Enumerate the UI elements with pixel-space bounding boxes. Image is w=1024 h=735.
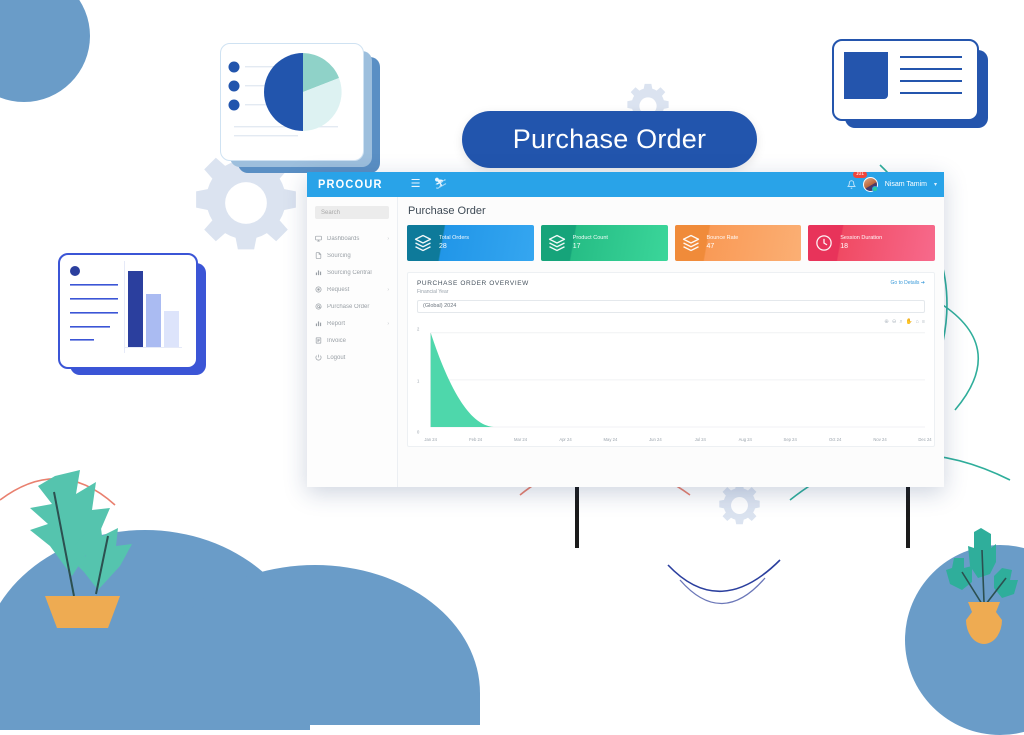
sidebar-item-label: Dashboards [327, 236, 382, 242]
chart-x-tick: Sep 24 [784, 437, 797, 442]
id-card-graphic [832, 39, 975, 117]
stat-card-label: Bounce Rate [707, 236, 739, 242]
go-to-details-link[interactable]: Go to Details ➔ [891, 280, 925, 286]
gear-bottom-center [716, 482, 763, 529]
sidebar-item-sourcing[interactable]: Sourcing [307, 247, 397, 264]
sidebar-item-label: Request [327, 287, 382, 293]
stat-card-label: Session Duration [840, 236, 882, 242]
zoom-out-icon[interactable]: ⊖ [892, 320, 897, 326]
chart-toolbar: ⊕ ⊖ ⌕ ✋ ⌂ ≡ [884, 320, 925, 326]
target-icon [315, 286, 322, 293]
stat-card-value: 18 [840, 243, 882, 250]
user-name[interactable]: Nisam Tamim [885, 181, 927, 188]
potted-plant-right [944, 520, 1024, 646]
reset-home-icon[interactable]: ⌂ [915, 320, 918, 326]
sidebar-item-label: Sourcing Central [327, 270, 384, 276]
chart-y-tick: 2 [417, 327, 419, 332]
stat-card-label: Total Orders [439, 236, 469, 242]
pie-chart-card [220, 43, 380, 173]
panel-subtitle: Financial Year [417, 289, 529, 295]
chart-bar-icon [315, 269, 322, 276]
sidebar-item-label: Report [327, 321, 382, 327]
page-root: Purchase Order PROCOUR ☰ ⛷ 101 Nisam Tam… [0, 0, 1024, 646]
document-icon [315, 252, 322, 259]
layers-icon [682, 234, 700, 252]
background-blob-top-left [0, 0, 90, 102]
chart-bar-icon [315, 320, 322, 327]
stat-card-total-orders[interactable]: Total Orders 28 [407, 225, 534, 261]
sidebar-item-purchase-order[interactable]: Purchase Order [307, 298, 397, 315]
layers-icon [414, 234, 432, 252]
chart-x-tick: Mar 24 [514, 437, 527, 442]
chart-x-tick: Dec 24 [918, 437, 931, 442]
layers-icon [548, 234, 566, 252]
app-logo[interactable]: PROCOUR [318, 178, 383, 191]
financial-year-select[interactable]: (Global) 2024 [417, 300, 925, 313]
at-icon [315, 303, 322, 310]
chevron-right-icon: › [387, 236, 389, 242]
bar-chart-graphic [58, 253, 194, 365]
chart-x-tick: Apr 24 [559, 437, 571, 442]
area-chart-svg [417, 329, 925, 440]
financial-year-value: (Global) 2024 [423, 303, 456, 309]
avatar[interactable] [863, 177, 878, 192]
chart-x-tick: Jan 24 [424, 437, 437, 442]
bell-icon[interactable]: 101 [847, 176, 856, 194]
decorative-stick-right [906, 486, 910, 548]
chart-x-tick: Jul 24 [695, 437, 706, 442]
chart-x-tick: Feb 24 [469, 437, 482, 442]
chart-x-tick: Nov 24 [873, 437, 886, 442]
chart-y-axis-labels: 012 [417, 329, 431, 432]
sidebar-item-report[interactable]: Report › [307, 315, 397, 332]
search-placeholder: Search [321, 210, 340, 216]
purchase-order-overview-panel: PURCHASE ORDER OVERVIEW Financial Year G… [407, 272, 935, 447]
power-icon [315, 354, 322, 361]
fullscreen-icon[interactable]: ⛷ [434, 179, 448, 190]
chart-x-tick: Aug 24 [739, 437, 752, 442]
background-blob-bottom-right [905, 545, 1024, 735]
background-blob-bottom-left-2 [150, 565, 480, 725]
sidebar-item-label: Invoice [327, 338, 384, 344]
chart-x-axis-labels: Jan 24Feb 24Mar 24Apr 24May 24Jun 24Jul … [417, 437, 925, 445]
stat-card-value: 47 [707, 243, 739, 250]
stat-card-label: Product Count [573, 236, 608, 242]
monitor-icon [315, 235, 322, 242]
search-input[interactable]: Search [315, 206, 389, 219]
sidebar-item-invoice[interactable]: Invoice [307, 332, 397, 349]
zoom-in-icon[interactable]: ⊕ [884, 320, 889, 326]
sidebar-item-dashboards[interactable]: Dashboards › [307, 230, 397, 247]
panel-title: PURCHASE ORDER OVERVIEW [417, 280, 529, 288]
clock-icon [815, 234, 833, 252]
bar-chart-card [58, 253, 213, 381]
topbar-right-group: 101 Nisam Tamim ▾ [847, 172, 937, 197]
main-content: Purchase Order Total Orders 28 [398, 197, 944, 487]
chevron-down-icon[interactable]: ▾ [934, 181, 937, 188]
id-card-illustration [832, 39, 990, 131]
decorative-stick-left [575, 486, 579, 548]
purchase-order-area-chart[interactable] [417, 329, 925, 440]
sidebar-item-label: Sourcing [327, 253, 384, 259]
page-title: Purchase Order [408, 205, 935, 217]
chart-y-tick: 1 [417, 378, 419, 383]
sidebar-item-label: Logout [327, 355, 384, 361]
pan-icon[interactable]: ✋ [906, 320, 913, 326]
chart-x-tick: Jun 24 [649, 437, 662, 442]
sidebar-item-sourcing-central[interactable]: Sourcing Central [307, 264, 397, 281]
stat-card-bounce-rate[interactable]: Bounce Rate 47 [675, 225, 802, 261]
chevron-right-icon: › [387, 287, 389, 293]
background-blob-bottom-left [0, 530, 310, 730]
chart-x-tick: May 24 [604, 437, 618, 442]
hamburger-icon[interactable]: ☰ [411, 179, 421, 190]
pie-chart-graphic [220, 43, 362, 159]
stat-card-row: Total Orders 28 Product Count 17 [407, 225, 935, 261]
app-window: PROCOUR ☰ ⛷ 101 Nisam Tamim ▾ [307, 172, 944, 487]
sidebar-item-logout[interactable]: Logout [307, 349, 397, 366]
stat-card-value: 28 [439, 243, 469, 250]
chart-x-tick: Oct 24 [829, 437, 841, 442]
sidebar-item-request[interactable]: Request › [307, 281, 397, 298]
chart-y-tick: 0 [417, 430, 419, 435]
stat-card-session-duration[interactable]: Session Duration 18 [808, 225, 935, 261]
app-topbar: PROCOUR ☰ ⛷ 101 Nisam Tamim ▾ [307, 172, 944, 197]
stat-card-value: 17 [573, 243, 608, 250]
purchase-order-banner-label: Purchase Order [513, 124, 706, 155]
chevron-right-icon: › [387, 321, 389, 327]
stat-card-product-count[interactable]: Product Count 17 [541, 225, 668, 261]
sidebar: Search Dashboards › Sourcing [307, 197, 398, 487]
notification-badge: 101 [853, 172, 867, 178]
potted-plant-left [0, 468, 200, 646]
sidebar-item-label: Purchase Order [327, 304, 384, 310]
selection-icon[interactable]: ⌕ [900, 320, 903, 326]
purchase-order-banner: Purchase Order [462, 111, 757, 168]
menu-icon[interactable]: ≡ [922, 320, 925, 326]
invoice-icon [315, 337, 322, 344]
